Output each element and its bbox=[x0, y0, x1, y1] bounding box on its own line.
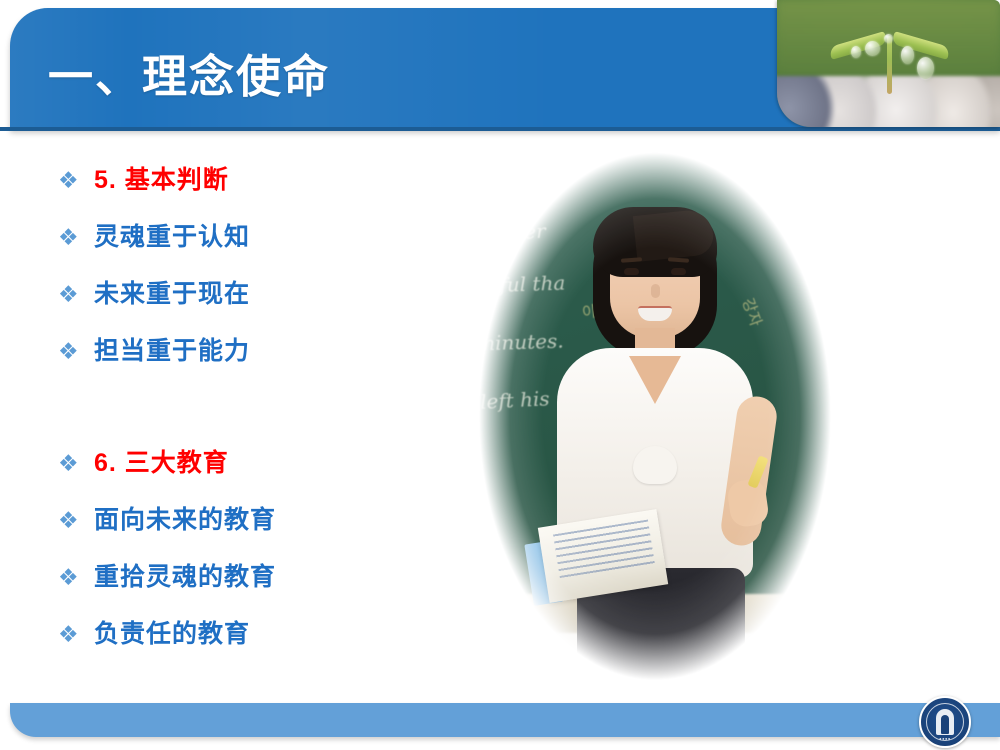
smiling-mouth bbox=[638, 306, 672, 321]
diamond-bullet-icon: ❖ bbox=[58, 566, 94, 589]
bullet-group-heading: 5. 基本判断 bbox=[94, 160, 229, 196]
diamond-bullet-icon: ❖ bbox=[58, 509, 94, 532]
eye-right bbox=[671, 268, 686, 275]
bullet-list: ❖ 5. 基本判断 ❖ 灵魂重于认知 ❖ 未来重于现在 ❖ 担当重于能力 ❖ 6… bbox=[58, 160, 478, 671]
list-item[interactable]: ❖ 担当重于能力 bbox=[58, 331, 478, 388]
dew-drop bbox=[865, 41, 880, 56]
bullet-group-heading: 6. 三大教育 bbox=[94, 443, 229, 479]
list-item[interactable]: ❖ 灵魂重于认知 bbox=[58, 217, 478, 274]
page-title: 一、理念使命 bbox=[48, 40, 330, 105]
list-item[interactable]: ❖ 6. 三大教育 bbox=[58, 443, 478, 500]
footer-bar bbox=[10, 703, 1000, 737]
teacher-photo-oval-vignette: chter erful tha minutes. left his 이것 강자 bbox=[470, 150, 840, 705]
bullet-item-label: 面向未来的教育 bbox=[94, 500, 276, 536]
logo-emblem-inner bbox=[941, 715, 949, 734]
slide-canvas: 一、理念使命 ❖ 5. 基本判断 ❖ 灵魂重于认知 ❖ 未来重于现在 ❖ 担当重… bbox=[0, 0, 1000, 750]
dew-drop bbox=[851, 46, 861, 58]
bullet-item-label: 灵魂重于认知 bbox=[94, 217, 250, 253]
blouse-bow bbox=[633, 446, 677, 484]
school-emblem-logo: ●●●● bbox=[919, 696, 971, 748]
dew-drop bbox=[901, 46, 914, 64]
list-item[interactable]: ❖ 重拾灵魂的教育 bbox=[58, 557, 478, 614]
dew-drop bbox=[917, 57, 934, 79]
bullet-group-spacer bbox=[58, 388, 478, 443]
diamond-bullet-icon: ❖ bbox=[58, 340, 94, 363]
sprout-stem bbox=[887, 36, 892, 94]
logo-rim-text: ●●●● bbox=[921, 736, 969, 741]
bullet-item-label: 重拾灵魂的教育 bbox=[94, 557, 276, 593]
diamond-bullet-icon: ❖ bbox=[58, 623, 94, 646]
nose bbox=[651, 284, 660, 298]
teacher-at-chalkboard-photo: chter erful tha minutes. left his 이것 강자 bbox=[470, 150, 840, 705]
teacher-figure bbox=[470, 150, 840, 705]
bullet-item-label: 负责任的教育 bbox=[94, 614, 250, 650]
list-item[interactable]: ❖ 未来重于现在 bbox=[58, 274, 478, 331]
diamond-bullet-icon: ❖ bbox=[58, 452, 94, 475]
list-item[interactable]: ❖ 面向未来的教育 bbox=[58, 500, 478, 557]
diamond-bullet-icon: ❖ bbox=[58, 283, 94, 306]
diamond-bullet-icon: ❖ bbox=[58, 169, 94, 192]
list-item[interactable]: ❖ 负责任的教育 bbox=[58, 614, 478, 671]
header-underline bbox=[0, 127, 1000, 131]
diamond-bullet-icon: ❖ bbox=[58, 226, 94, 249]
bullet-item-label: 未来重于现在 bbox=[94, 274, 250, 310]
book-text-lines bbox=[553, 520, 655, 582]
eye-left bbox=[624, 268, 639, 275]
bullet-item-label: 担当重于能力 bbox=[94, 331, 250, 367]
dew-drop bbox=[884, 34, 893, 43]
sprout-with-dewdrops-photo bbox=[777, 0, 1000, 127]
list-item[interactable]: ❖ 5. 基本判断 bbox=[58, 160, 478, 217]
